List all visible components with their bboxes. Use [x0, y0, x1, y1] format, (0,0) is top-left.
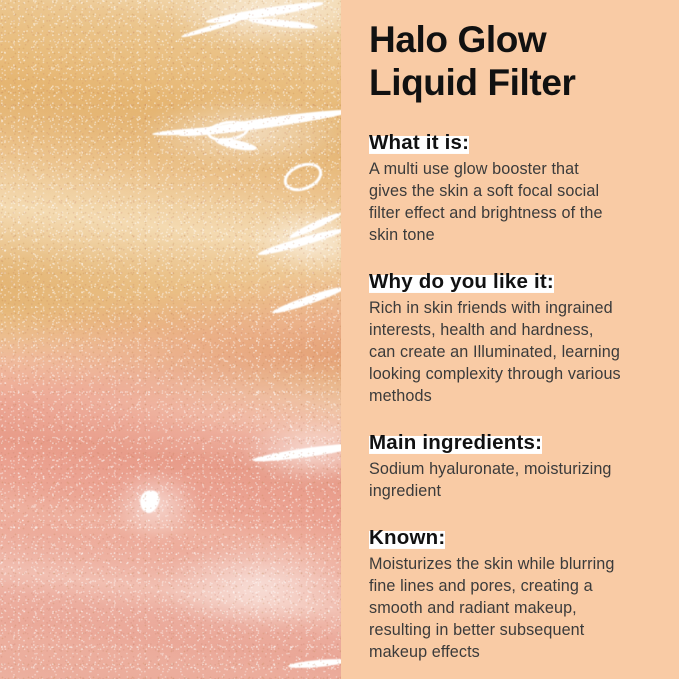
section-heading-row: Why do you like it:: [369, 269, 661, 295]
section-what-it-is: What it is: A multi use glow booster tha…: [369, 130, 661, 247]
section-heading-row: Main ingredients:: [369, 430, 661, 456]
section-body: A multi use glow booster that gives the …: [369, 159, 661, 247]
swatch-shimmer-speckle-dark: [0, 0, 341, 679]
section-why-do-you-like-it: Why do you like it: Rich in skin friends…: [369, 269, 661, 408]
section-heading-row: What it is:: [369, 130, 661, 156]
section-heading: What it is:: [369, 131, 469, 154]
page-title: Halo Glow Liquid Filter: [369, 0, 661, 105]
product-detail-page: Halo Glow Liquid Filter What it is: A mu…: [0, 0, 679, 679]
section-heading: Why do you like it:: [369, 270, 554, 293]
section-heading-row: Known:: [369, 525, 661, 551]
section-heading: Main ingredients:: [369, 431, 542, 454]
section-heading: Known:: [369, 526, 445, 549]
section-body: Rich in skin friends with ingrained inte…: [369, 298, 661, 408]
section-known: Known: Moisturizes the skin while blurri…: [369, 525, 661, 664]
section-main-ingredients: Main ingredients: Sodium hyaluronate, mo…: [369, 430, 661, 503]
product-copy-panel: Halo Glow Liquid Filter What it is: A mu…: [341, 0, 679, 679]
section-body: Moisturizes the skin while blurring fine…: [369, 554, 661, 664]
section-body: Sodium hyaluronate, moisturizing ingredi…: [369, 459, 661, 503]
product-swatch-image: [0, 0, 341, 679]
